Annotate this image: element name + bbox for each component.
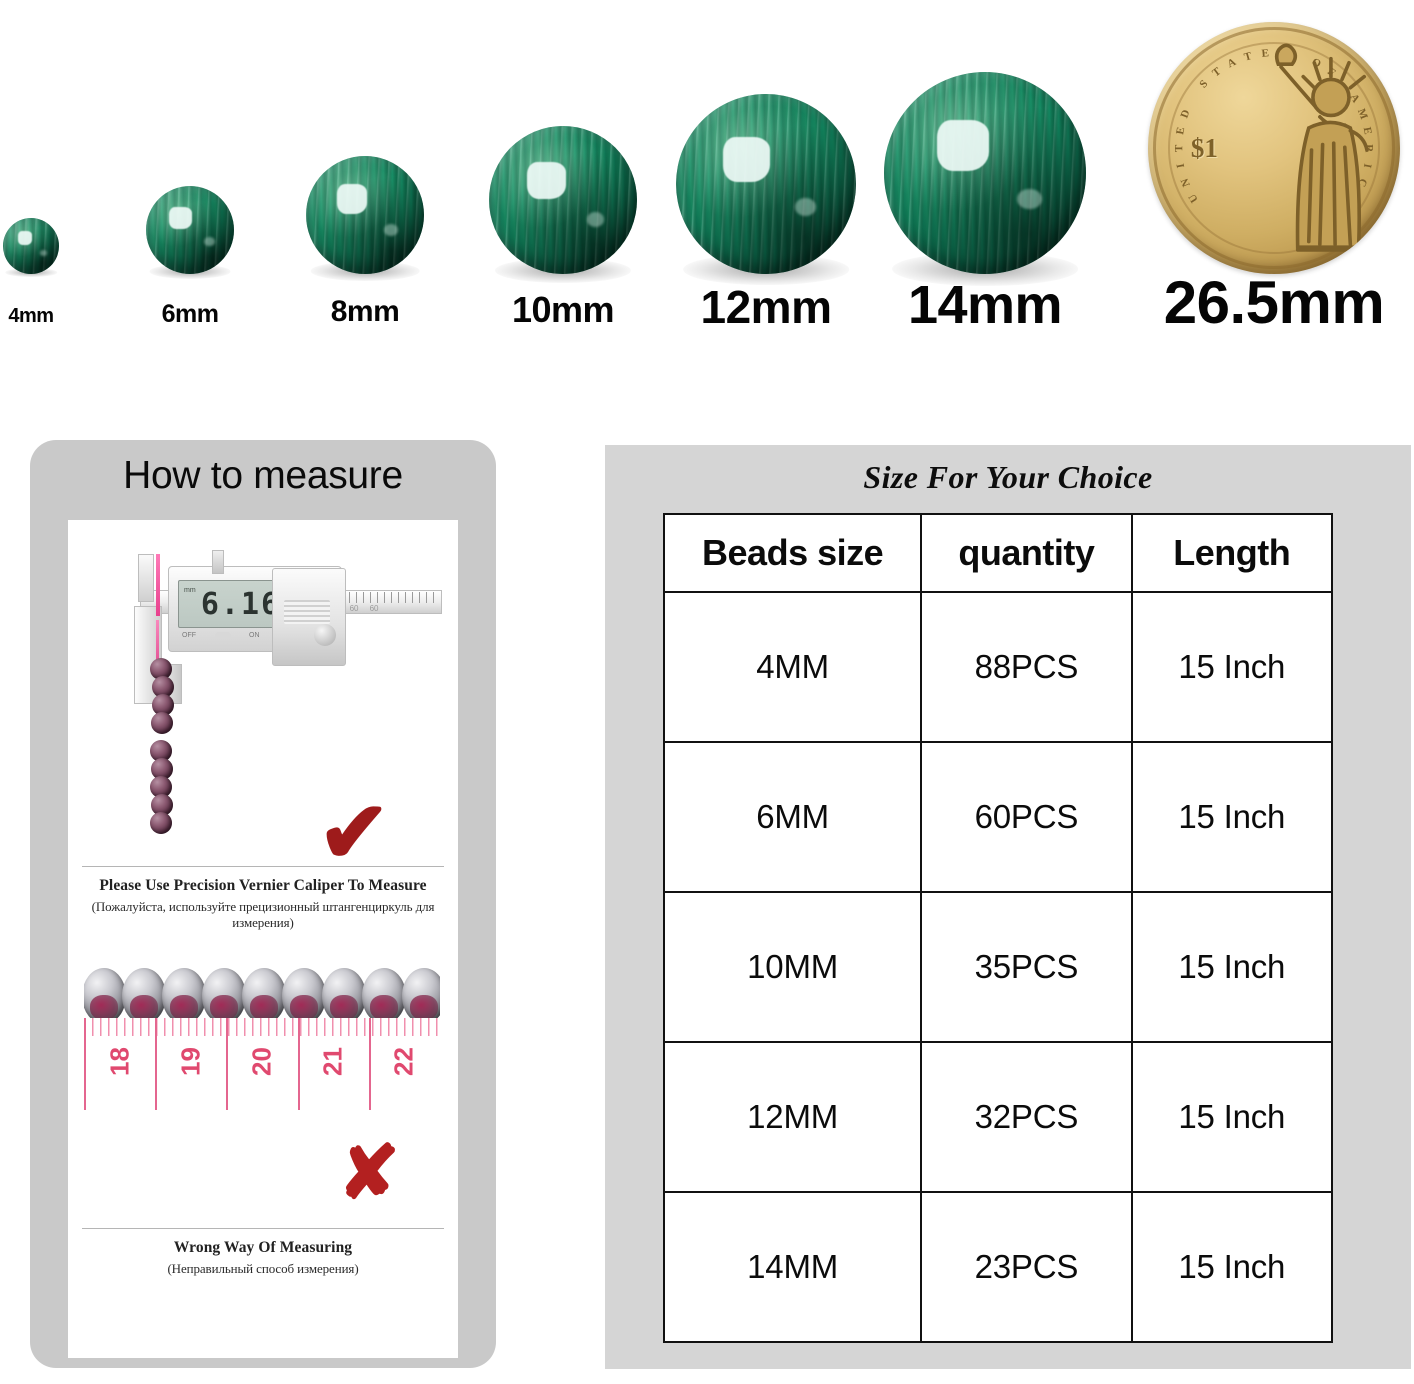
coin-legend-char: T <box>1210 65 1223 79</box>
coin-legend-char: T <box>1173 145 1185 152</box>
right-way-caption-ru: (Пожалуйста, используйте прецизионный шт… <box>68 899 458 931</box>
malachite-bead-icon <box>306 156 424 274</box>
bead-size-label: 12mm <box>646 284 886 330</box>
steel-bead-icon <box>162 968 206 1024</box>
cell-quantity: 23PCS <box>921 1192 1131 1342</box>
cell-beads-size: 4MM <box>664 592 921 742</box>
tape-body: 1819202122 <box>84 1018 440 1124</box>
coin-legend-char: S <box>1197 78 1210 91</box>
coin-denomination: $1 <box>1191 133 1218 164</box>
bead-sample-item: 6mm <box>116 0 264 350</box>
bead-size-label: 26.5mm <box>1118 273 1414 333</box>
table-row: 12MM32PCS15 Inch <box>664 1042 1332 1192</box>
us-dollar-coin-icon: UNITED STATES OF AMERICA$1 <box>1148 22 1400 274</box>
wrong-way-caption-ru: (Неправильный способ измерения) <box>68 1261 458 1277</box>
coin-legend-char: I <box>1175 163 1188 169</box>
how-to-measure-panel: How to measure 0 60 60 mm 6.16 OFF ON ZE… <box>30 440 496 1368</box>
bead-sample-item: 4mm <box>0 0 89 350</box>
coin-reference-item: UNITED STATES OF AMERICA$126.5mm <box>1118 0 1414 350</box>
tape-number-label: 20 <box>247 1044 278 1080</box>
measure-guide-line <box>156 554 160 616</box>
caliper-button-off[interactable]: OFF <box>182 632 196 639</box>
cell-length: 15 Inch <box>1132 592 1332 742</box>
how-to-measure-title: How to measure <box>30 454 496 498</box>
cell-beads-size: 14MM <box>664 1192 921 1342</box>
tape-major-tick <box>369 1018 371 1110</box>
cell-quantity: 88PCS <box>921 592 1131 742</box>
bead-sample-item: 8mm <box>276 0 454 350</box>
caliper-toggle-left[interactable] <box>215 632 231 639</box>
bead-size-comparison-strip: 4mm6mm8mm10mm12mm14mmUNITED STATES OF AM… <box>0 0 1414 350</box>
bead-sample-item: 10mm <box>459 0 667 350</box>
cell-quantity: 35PCS <box>921 892 1131 1042</box>
steel-bead-icon <box>362 968 406 1024</box>
cell-quantity: 32PCS <box>921 1042 1131 1192</box>
cross-mark-icon: ✘ <box>338 1136 400 1210</box>
steel-bead-icon <box>202 968 246 1024</box>
tape-number-label: 21 <box>318 1044 349 1080</box>
tape-number-label: 22 <box>389 1044 420 1080</box>
tape-major-tick <box>84 1018 86 1110</box>
table-row: 4MM88PCS15 Inch <box>664 592 1332 742</box>
table-row: 10MM35PCS15 Inch <box>664 892 1332 1042</box>
steel-bead-icon <box>122 968 166 1024</box>
steel-bead-icon <box>322 968 366 1024</box>
wrong-way-photo-card: 1819202122 ✘ Wrong Way Of Measuring (Неп… <box>68 940 458 1330</box>
cell-beads-size: 12MM <box>664 1042 921 1192</box>
steel-bead-icon <box>84 968 126 1024</box>
caliper-unit-label: mm <box>184 587 196 594</box>
cell-length: 15 Inch <box>1132 1192 1332 1342</box>
tape-number-label: 18 <box>104 1044 135 1080</box>
column-header-beads-size: Beads size <box>664 514 921 592</box>
check-mark-icon: ✔ <box>318 790 390 876</box>
table-row: 6MM60PCS15 Inch <box>664 742 1332 892</box>
cell-length: 15 Inch <box>1132 742 1332 892</box>
bead-size-label: 6mm <box>116 302 264 327</box>
malachite-bead-icon <box>3 218 59 274</box>
bead-size-label: 14mm <box>854 278 1116 332</box>
right-way-caption-en: Please Use Precision Vernier Caliper To … <box>68 877 458 895</box>
coin-legend-char: D <box>1178 108 1192 120</box>
column-header-length: Length <box>1132 514 1332 592</box>
malachite-bead-icon <box>676 94 856 274</box>
vernier-caliper-illustration: 0 60 60 mm 6.16 OFF ON ZERO <box>82 546 442 736</box>
coin-legend-char: A <box>1225 56 1237 70</box>
coin-legend-char: U <box>1186 192 1200 205</box>
tape-major-tick <box>298 1018 300 1110</box>
steel-bead-icon <box>242 968 286 1024</box>
cell-beads-size: 6MM <box>664 742 921 892</box>
tape-major-tick <box>155 1018 157 1110</box>
malachite-bead-icon <box>884 72 1086 274</box>
statue-of-liberty-icon <box>1244 42 1390 264</box>
bead-size-label: 4mm <box>0 306 89 326</box>
tape-major-tick <box>226 1018 228 1110</box>
column-header-quantity: quantity <box>921 514 1131 592</box>
bead-sample-item: 12mm <box>646 0 886 350</box>
cell-beads-size: 10MM <box>664 892 921 1042</box>
table-row: 14MM23PCS15 Inch <box>664 1192 1332 1342</box>
caliper-reading: 6.16 <box>201 587 281 622</box>
tape-number-label: 19 <box>175 1044 206 1080</box>
table-header-row: Beads size quantity Length <box>664 514 1332 592</box>
cell-length: 15 Inch <box>1132 1042 1332 1192</box>
size-chart-table: Beads size quantity Length 4MM88PCS15 In… <box>663 513 1333 1343</box>
coin-legend-char: N <box>1179 177 1193 189</box>
bead-size-label: 8mm <box>276 297 454 327</box>
tape-measure-illustration: 1819202122 <box>84 966 440 1124</box>
steel-bead-icon <box>402 968 440 1024</box>
cell-quantity: 60PCS <box>921 742 1131 892</box>
bead-sample-item: 14mm <box>854 0 1116 350</box>
caliper-button-on[interactable]: ON <box>249 632 260 639</box>
steel-bead-icon <box>282 968 326 1024</box>
bead-size-label: 10mm <box>459 292 667 328</box>
malachite-bead-icon <box>146 186 234 274</box>
coin-legend-char: E <box>1174 126 1187 135</box>
size-chart-heading: Size For Your Choice <box>605 459 1411 496</box>
wrong-way-caption-en: Wrong Way Of Measuring <box>68 1239 458 1257</box>
cell-length: 15 Inch <box>1132 892 1332 1042</box>
malachite-bead-icon <box>489 126 637 274</box>
size-chart-panel: Size For Your Choice Beads size quantity… <box>605 445 1411 1369</box>
